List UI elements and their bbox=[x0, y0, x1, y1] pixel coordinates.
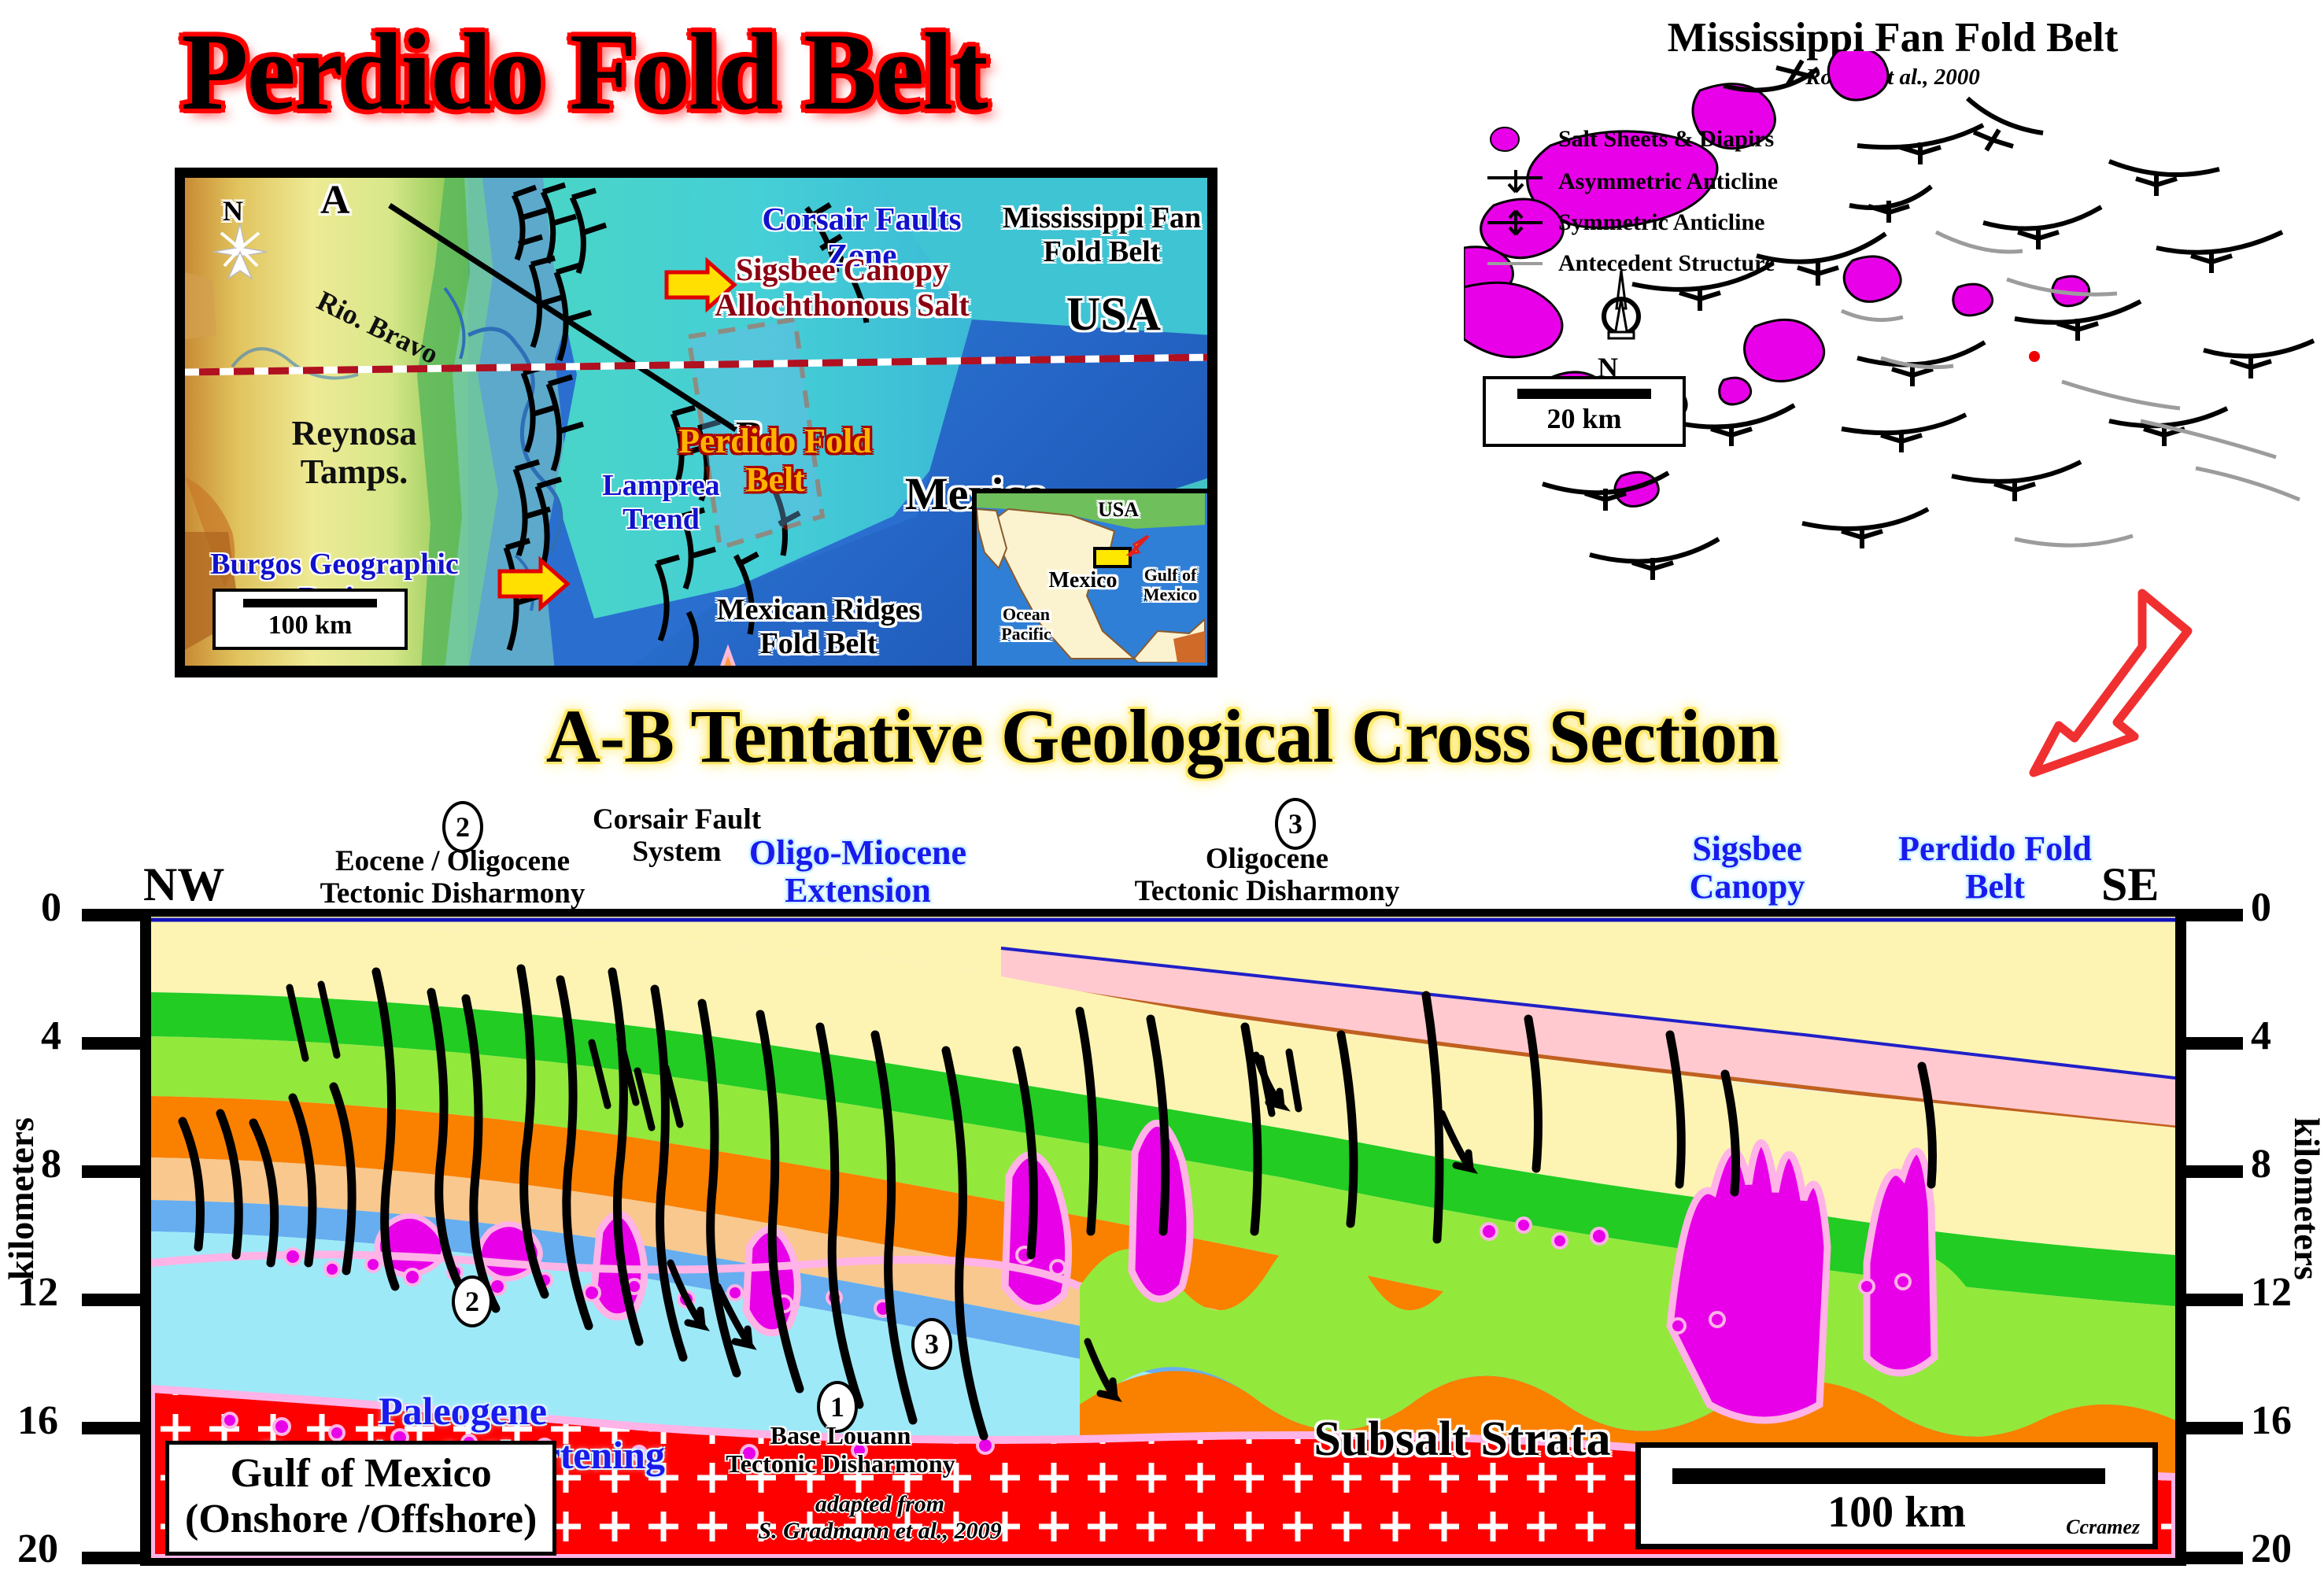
marker-2-inner: 2 bbox=[452, 1275, 493, 1327]
label-reynosa-tamps: Reynosa Tamps. bbox=[252, 414, 456, 492]
cross-section-scale-box: 100 km Ccramez bbox=[1635, 1442, 2158, 1549]
inset-label-pacific: Ocean Pacific bbox=[983, 605, 1070, 644]
axis-title-right: kilometers bbox=[2286, 1117, 2324, 1280]
mississippi-fan-panel: Mississippi Fan Fold Belt Rowan et al., … bbox=[1464, 8, 2322, 606]
mffb-legend-label-asymmetric: Asymmetric Anticline bbox=[1558, 168, 1778, 195]
inset-map: USA Mexico Gulf of Mexico Ocean Pacific bbox=[972, 489, 1207, 666]
label-usa: USA bbox=[1035, 288, 1192, 341]
cross-section-title: A-B Tentative Geological Cross Section bbox=[0, 692, 2324, 780]
axis-tick-left-4: 4 bbox=[41, 1013, 61, 1059]
mffb-legend-item-salt: Salt Sheets & Diapirs bbox=[1484, 126, 1774, 153]
map-scale-box: 100 km bbox=[212, 589, 408, 650]
axis-tick-right-0: 0 bbox=[2251, 884, 2271, 931]
axis-tick-right-16: 16 bbox=[2251, 1397, 2292, 1444]
ann-eocene-oligocene-disharmony: Eocene / Oligocene Tectonic Disharmony bbox=[307, 846, 598, 910]
north-label: N bbox=[223, 195, 243, 227]
ann-sigsbee-canopy-top: Sigsbee Canopy bbox=[1645, 830, 1849, 906]
inset-label-usa: USA bbox=[1071, 498, 1166, 521]
mffb-legend-item-symmetric: Symmetric Anticline bbox=[1484, 209, 1764, 236]
symmetric-anticline-icon bbox=[1484, 209, 1549, 236]
label-mexican-ridges: Mexican Ridges Fold Belt bbox=[689, 593, 948, 660]
axis-tick-left-0: 0 bbox=[41, 884, 61, 931]
mffb-legend-item-asymmetric: Asymmetric Anticline bbox=[1484, 168, 1778, 195]
ann-subsalt-strata: Subsalt Strata bbox=[1258, 1412, 1667, 1467]
map-scale-bar bbox=[243, 599, 377, 607]
cross-section-figure: 2 3 1 Paleogene Extension & Shortening B… bbox=[140, 909, 2186, 1566]
axis-tick-right-8: 8 bbox=[2251, 1141, 2271, 1187]
author-credit: Ccramez bbox=[2066, 1515, 2140, 1539]
mffb-scale-bar bbox=[1517, 389, 1651, 399]
mffb-legend-label-salt: Salt Sheets & Diapirs bbox=[1558, 126, 1774, 153]
axis-tick-right-4: 4 bbox=[2251, 1013, 2271, 1059]
ann-perdido-fold-belt-top: Perdido Fold Belt bbox=[1865, 830, 2125, 906]
mffb-scale-box: 20 km bbox=[1483, 376, 1686, 447]
label-sigsbee-canopy: Sigsbee Canopy Allochthonous Salt bbox=[673, 253, 1011, 323]
label-perdido-fold-belt: Perdido Fold Belt bbox=[657, 422, 893, 500]
antecedent-structure-icon bbox=[1484, 250, 1549, 277]
label-mississippi-fan: Mississippi Fan Fold Belt bbox=[980, 201, 1207, 268]
regional-map-canvas: A B N Corsair Faults Zone Rio. Bravo Rey… bbox=[185, 178, 1207, 666]
axis-tick-left-20: 20 bbox=[17, 1526, 58, 1572]
mffb-north-arrow-icon bbox=[1574, 268, 1668, 362]
section-endpoint-a: A bbox=[320, 178, 350, 223]
axis-tick-left-16: 16 bbox=[17, 1397, 58, 1444]
marker-3-inner: 3 bbox=[911, 1318, 952, 1370]
mffb-legend-label-symmetric: Symmetric Anticline bbox=[1558, 209, 1764, 236]
ann-oligocene-disharmony: Oligocene Tectonic Disharmony bbox=[1094, 844, 1440, 907]
axis-tick-left-8: 8 bbox=[41, 1141, 61, 1187]
yellow-arrow-lamprea bbox=[500, 560, 567, 607]
axis-tick-right-20: 20 bbox=[2251, 1526, 2292, 1572]
inset-label-mexico: Mexico bbox=[1024, 568, 1142, 592]
north-arrow-map bbox=[213, 223, 267, 279]
page-title: Perdido Fold Belt bbox=[181, 17, 1283, 127]
regional-map-panel: A B N Corsair Faults Zone Rio. Bravo Rey… bbox=[175, 168, 1217, 677]
mffb-scale-label: 20 km bbox=[1546, 402, 1621, 435]
ann-oligo-miocene-extension: Oligo-Miocene Extension bbox=[700, 834, 1015, 910]
asymmetric-anticline-icon bbox=[1484, 168, 1549, 195]
ann-source-credit: adapted from S. Gradmann et al., 2009 bbox=[722, 1491, 1037, 1544]
cross-section-scale-bar bbox=[1672, 1468, 2105, 1484]
salt-blob-icon bbox=[1484, 126, 1549, 153]
map-scale-label: 100 km bbox=[268, 611, 353, 640]
inset-label-gulf: Gulf of Mexico bbox=[1131, 566, 1207, 604]
axis-title-left: kilometers bbox=[0, 1117, 42, 1280]
ann-base-louann-disharmony: Base Louann Tectonic Disharmony bbox=[707, 1422, 974, 1478]
orientation-label-se: SE bbox=[2101, 858, 2159, 912]
orientation-label-nw: NW bbox=[143, 858, 224, 912]
gulf-of-mexico-box: Gulf of Mexico (Onshore /Offshore) bbox=[165, 1441, 556, 1556]
